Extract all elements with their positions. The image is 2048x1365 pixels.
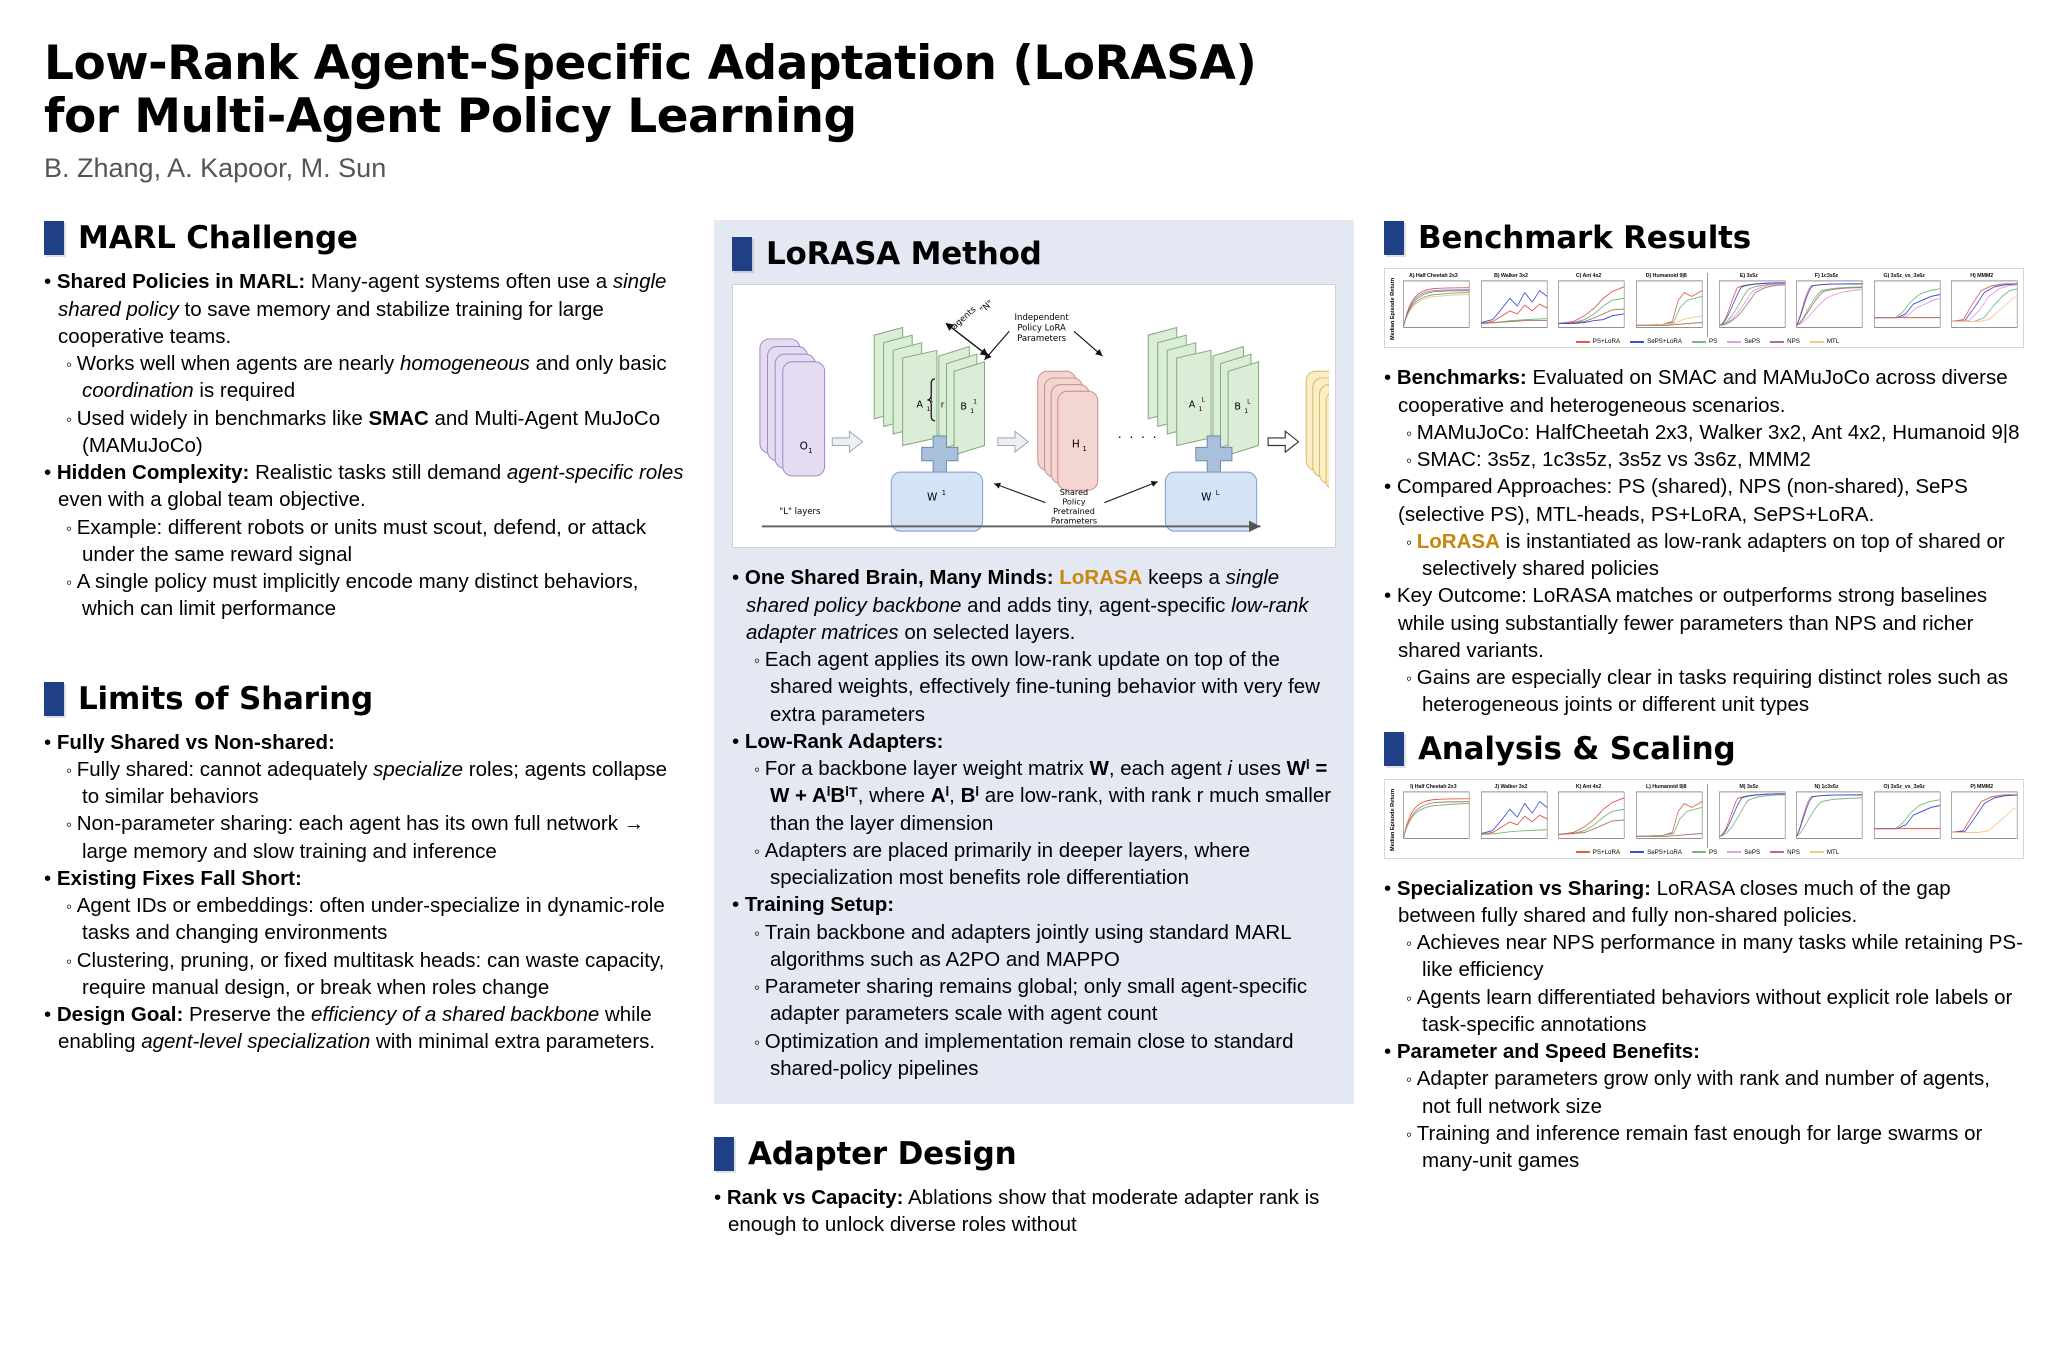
shared-weight-block-L: W L <box>1165 472 1256 531</box>
svg-text:1: 1 <box>1244 408 1248 415</box>
svg-text:L: L <box>1216 489 1220 497</box>
smac-group-2: M) 3s5z N) 1c3s5z <box>1707 784 2020 848</box>
legend-item: SePS <box>1727 849 1760 856</box>
list-item: Non-parameter sharing: each agent has it… <box>44 810 684 865</box>
legend-item: NPS <box>1770 338 1800 345</box>
chart-panel: K) Ant 4x2 <box>1551 784 1626 848</box>
analysis-scaling-chart: Median Episode Return I) Half Cheetah 2x… <box>1384 779 2024 859</box>
section-title: Analysis & Scaling <box>1418 731 1736 767</box>
list-item: One Shared Brain, Many Minds: LoRASA kee… <box>732 564 1336 646</box>
chart-panel: A) Half Cheetah 2x3 <box>1396 273 1471 337</box>
chart-panel: B) Walker 3x2 <box>1474 273 1549 337</box>
benchmark-results-chart: Median Episode Return A) Half Cheetah 2x… <box>1384 268 2024 348</box>
chart-panel: M) 3s5z <box>1712 784 1787 848</box>
independent-lora-label: Independent Policy LoRA Parameters <box>985 313 1103 360</box>
list-item: Parameter sharing remains global; only s… <box>732 973 1336 1028</box>
section-header: Adapter Design <box>714 1136 1354 1172</box>
section-header: MARL Challenge <box>44 220 684 256</box>
section-title: Adapter Design <box>748 1136 1017 1172</box>
svg-text:Parameters: Parameters <box>1051 516 1097 526</box>
svg-text:Policy LoRA: Policy LoRA <box>1017 324 1066 334</box>
svg-text:L: L <box>1247 399 1251 406</box>
svg-text:"N": "N" <box>978 299 995 316</box>
svg-text:W: W <box>927 492 937 504</box>
chart-panel: N) 1c3s5z <box>1789 784 1864 848</box>
section-header: Benchmark Results <box>1384 220 2024 256</box>
list-item: A single policy must implicitly encode m… <box>44 568 684 623</box>
chart-panel: J) Walker 3x2 <box>1474 784 1549 848</box>
section-title: Benchmark Results <box>1418 220 1751 256</box>
section-analysis-scaling: Analysis & Scaling Median Episode Return… <box>1384 731 2024 1175</box>
svg-text:1: 1 <box>973 399 977 406</box>
list-item: Training Setup: <box>732 891 1336 918</box>
list-item: Hidden Complexity: Realistic tasks still… <box>44 459 684 514</box>
chart-panel: O) 3s5z_vs_3s6z <box>1867 784 1942 848</box>
chart-panel: G) 3s5z_vs_3s6z <box>1867 273 1942 337</box>
section-limits-of-sharing: Limits of Sharing Fully Shared vs Non-sh… <box>44 681 684 1056</box>
list-item: Low-Rank Adapters: <box>732 728 1336 755</box>
mamujoco-group: A) Half Cheetah 2x3 <box>1396 273 1704 337</box>
chart-legend: PS+LoRA SePS+LoRA PS SePS NPS MTL <box>1396 338 2019 345</box>
chart-ylabel: Median Episode Return <box>1389 784 1396 856</box>
section-accent-bar <box>44 221 64 255</box>
list-item: Design Goal: Preserve the efficiency of … <box>44 1001 684 1056</box>
left-column: MARL Challenge Shared Policies in MARL: … <box>44 220 684 1055</box>
list-item: Clustering, pruning, or fixed multitask … <box>44 947 684 1002</box>
legend-item: NPS <box>1770 849 1800 856</box>
list-item: Agent IDs or embeddings: often under-spe… <box>44 892 684 947</box>
list-item: Key Outcome: LoRASA matches or outperfor… <box>1384 582 2024 664</box>
list-item: Rank vs Capacity: Ablations show that mo… <box>714 1184 1354 1239</box>
svg-text:1: 1 <box>926 406 930 413</box>
list-item: Existing Fixes Fall Short: <box>44 865 684 892</box>
list-item: Fully shared: cannot adequately speciali… <box>44 756 684 811</box>
chart-legend: PS+LoRA SePS+LoRA PS SePS NPS MTL <box>1396 849 2019 856</box>
n-agents-annotation: agents "N" <box>946 299 995 357</box>
svg-text:1: 1 <box>1199 406 1203 413</box>
legend-item: SePS+LoRA <box>1630 338 1682 345</box>
poster-header: Low-Rank Agent-Specific Adaptation (LoRA… <box>44 38 2004 184</box>
list-item: Benchmarks: Evaluated on SMAC and MAMuJo… <box>1384 364 2024 419</box>
section-adapter-design: Adapter Design Rank vs Capacity: Ablatio… <box>714 1136 1354 1239</box>
list-item: Specialization vs Sharing: LoRASA closes… <box>1384 875 2024 930</box>
chart-panel-row: A) Half Cheetah 2x3 <box>1396 273 2019 337</box>
svg-text:A: A <box>1189 400 1196 411</box>
smac-group: E) 3s5z <box>1707 273 2020 337</box>
chart-panel: E) 3s5z <box>1712 273 1787 337</box>
svg-text:r: r <box>941 401 945 411</box>
svg-text:H: H <box>1072 439 1080 451</box>
svg-text:B: B <box>1234 402 1241 413</box>
list-item: Works well when agents are nearly homoge… <box>44 350 684 405</box>
legend-item: MTL <box>1810 338 1839 345</box>
section-body: Fully Shared vs Non-shared: Fully shared… <box>44 729 684 1056</box>
list-item: Achieves near NPS performance in many ta… <box>1384 929 2024 984</box>
section-header: Analysis & Scaling <box>1384 731 2024 767</box>
mamujoco-group-2: I) Half Cheetah 2x3 J) Walker 3 <box>1396 784 1704 848</box>
svg-text:· · · ·: · · · · <box>1118 431 1159 445</box>
lorasa-architecture-diagram: O 1 <box>739 291 1329 541</box>
middle-column: LoRASA Method <box>714 220 1354 1238</box>
section-title: LoRASA Method <box>766 236 1042 272</box>
section-marl-challenge: MARL Challenge Shared Policies in MARL: … <box>44 220 684 622</box>
list-item: Example: different robots or units must … <box>44 514 684 569</box>
chart-panel: P) MMM2 <box>1944 784 2019 848</box>
list-item: SMAC: 3s5z, 1c3s5z, 3s5z vs 3s6z, MMM2 <box>1384 446 2024 473</box>
section-body: Shared Policies in MARL: Many-agent syst… <box>44 268 684 622</box>
section-lorasa-method: LoRASA Method <box>714 220 1354 1104</box>
section-body: Rank vs Capacity: Ablations show that mo… <box>714 1184 1354 1239</box>
list-item: Fully Shared vs Non-shared: <box>44 729 684 756</box>
section-body: Benchmarks: Evaluated on SMAC and MAMuJo… <box>1384 364 2024 718</box>
svg-text:W: W <box>1201 492 1211 504</box>
svg-text:1: 1 <box>970 408 974 415</box>
list-item: Compared Approaches: PS (shared), NPS (n… <box>1384 473 2024 528</box>
poster-root: Low-Rank Agent-Specific Adaptation (LoRA… <box>0 0 2048 1365</box>
section-body: One Shared Brain, Many Minds: LoRASA kee… <box>732 564 1336 1082</box>
section-body: Specialization vs Sharing: LoRASA closes… <box>1384 875 2024 1175</box>
right-column: Benchmark Results Median Episode Return … <box>1384 220 2024 1174</box>
chart-panel: C) Ant 4x2 <box>1551 273 1626 337</box>
hidden-state-stack: H 1 <box>1038 372 1098 491</box>
page-title: Low-Rank Agent-Specific Adaptation (LoRA… <box>44 38 1344 143</box>
shared-params-label: Shared Policy Pretrained Parameters <box>994 482 1158 526</box>
section-header: LoRASA Method <box>732 236 1336 272</box>
legend-item: PS <box>1692 849 1717 856</box>
list-item: Agents learn differentiated behaviors wi… <box>1384 984 2024 1039</box>
svg-text:1: 1 <box>942 489 946 497</box>
chart-panel: H) MMM2 <box>1944 273 2019 337</box>
svg-text:Shared: Shared <box>1060 487 1088 497</box>
section-title: Limits of Sharing <box>78 681 373 717</box>
svg-text:"L" layers: "L" layers <box>779 507 821 517</box>
section-accent-bar <box>1384 732 1404 766</box>
chart-panel-row: I) Half Cheetah 2x3 J) Walker 3 <box>1396 784 2019 848</box>
section-accent-bar <box>732 237 752 271</box>
svg-text:A: A <box>917 400 924 411</box>
author-list: B. Zhang, A. Kapoor, M. Sun <box>44 153 2004 184</box>
legend-item: PS+LoRA <box>1576 849 1620 856</box>
list-item: Gains are especially clear in tasks requ… <box>1384 664 2024 719</box>
chart-panel: F) 1c3s5z <box>1789 273 1864 337</box>
svg-text:1: 1 <box>808 447 812 455</box>
list-item: LoRASA is instantiated as low-rank adapt… <box>1384 528 2024 583</box>
legend-item: SePS <box>1727 338 1760 345</box>
section-title: MARL Challenge <box>78 220 358 256</box>
shared-weight-block-1: W 1 <box>891 472 982 531</box>
svg-text:B: B <box>960 402 967 413</box>
list-item: Used widely in benchmarks like SMAC and … <box>44 405 684 460</box>
list-item: MAMuJoCo: HalfCheetah 2x3, Walker 3x2, A… <box>1384 419 2024 446</box>
svg-text:Independent: Independent <box>1015 313 1070 323</box>
svg-text:1: 1 <box>1083 445 1087 453</box>
list-item: Adapter parameters grow only with rank a… <box>1384 1065 2024 1120</box>
chart-panel: D) Humanoid 9|8 <box>1629 273 1704 337</box>
legend-item: PS <box>1692 338 1717 345</box>
svg-text:Policy: Policy <box>1062 497 1085 507</box>
chart-ylabel: Median Episode Return <box>1389 273 1396 345</box>
chart-panel: L) Humanoid 9|8 <box>1629 784 1704 848</box>
list-item: Train backbone and adapters jointly usin… <box>732 919 1336 974</box>
svg-text:Pretrained: Pretrained <box>1053 506 1095 516</box>
section-accent-bar <box>44 682 64 716</box>
list-item: Training and inference remain fast enoug… <box>1384 1120 2024 1175</box>
list-item: Optimization and implementation remain c… <box>732 1028 1336 1083</box>
list-item: Shared Policies in MARL: Many-agent syst… <box>44 268 684 350</box>
lora-adapter-block-1: A 1 1 r B 1 1 <box>874 328 984 456</box>
svg-text:L: L <box>1201 397 1205 404</box>
lora-adapter-block-L: A 1 L B 1 L <box>1148 328 1258 456</box>
list-item: Parameter and Speed Benefits: <box>1384 1038 2024 1065</box>
chart-panel: I) Half Cheetah 2x3 <box>1396 784 1471 848</box>
section-accent-bar <box>714 1137 734 1171</box>
list-item: Adapters are placed primarily in deeper … <box>732 837 1336 892</box>
method-figure: O 1 <box>732 284 1336 548</box>
actions-stack: Actions 1 <box>1306 372 1329 491</box>
svg-text:Parameters: Parameters <box>1017 334 1066 344</box>
legend-item: SePS+LoRA <box>1630 849 1682 856</box>
list-item: Each agent applies its own low-rank upda… <box>732 646 1336 728</box>
legend-item: PS+LoRA <box>1576 338 1620 345</box>
svg-text:O: O <box>800 441 808 453</box>
section-header: Limits of Sharing <box>44 681 684 717</box>
legend-item: MTL <box>1810 849 1839 856</box>
observation-stack: O 1 <box>760 339 825 476</box>
poster-columns: MARL Challenge Shared Policies in MARL: … <box>44 220 2004 1238</box>
svg-text:agents: agents <box>950 305 979 332</box>
list-item: For a backbone layer weight matrix W, ea… <box>732 755 1336 837</box>
section-benchmark-results: Benchmark Results Median Episode Return … <box>1384 220 2024 718</box>
section-accent-bar <box>1384 221 1404 255</box>
